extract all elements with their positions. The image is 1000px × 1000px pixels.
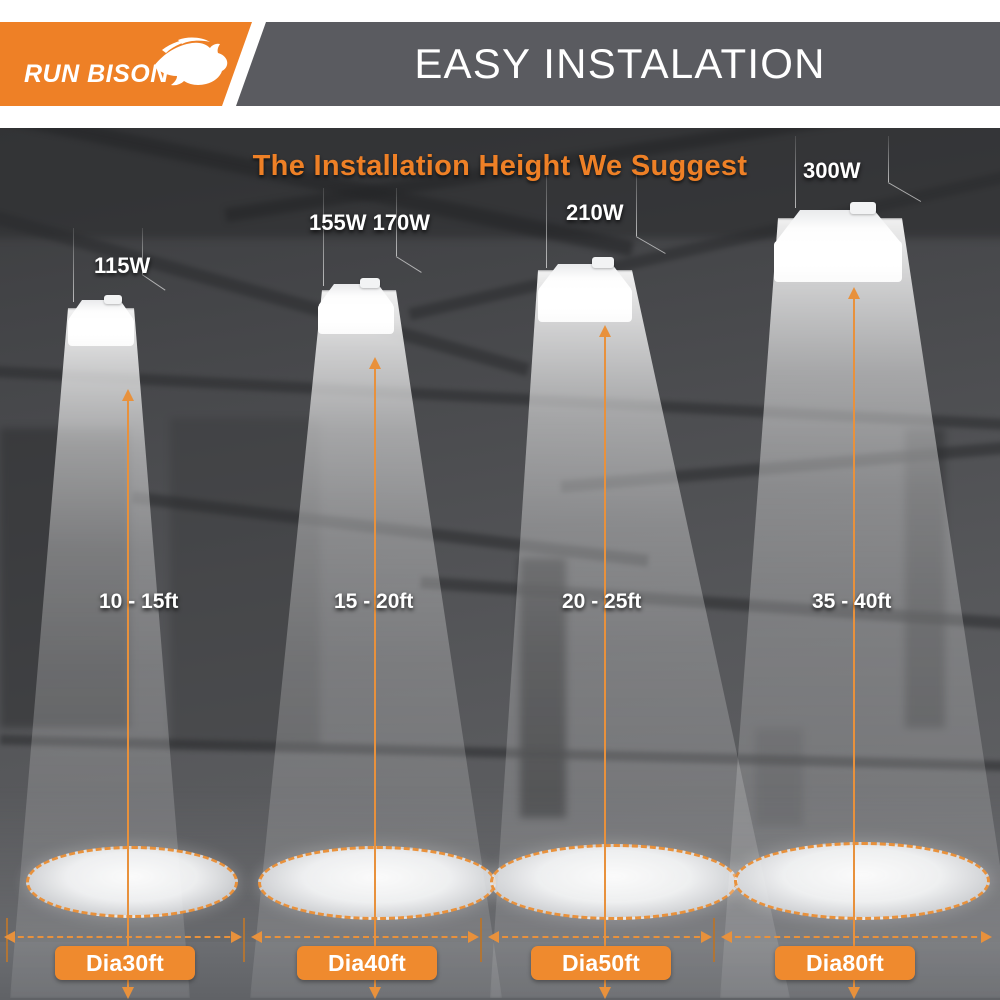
bison-icon bbox=[148, 36, 230, 92]
brand-logo: RUN BISON bbox=[18, 36, 228, 96]
wattage-label-2: 155W 170W bbox=[309, 210, 430, 236]
light-pool-1 bbox=[26, 846, 238, 918]
luminaire-2 bbox=[318, 284, 394, 334]
luminaire-3-housing bbox=[538, 264, 632, 290]
diameter-badge-2: Dia40ft bbox=[297, 946, 437, 980]
luminaire-2-lens bbox=[318, 304, 394, 334]
luminaire-1 bbox=[68, 300, 134, 346]
hanging-wire-3c bbox=[636, 236, 666, 254]
warehouse-scene: The Installation Height We Suggest 115W … bbox=[0, 128, 1000, 1000]
wattage-label-3: 210W bbox=[566, 200, 623, 226]
dim-arrow-left-3 bbox=[488, 931, 499, 943]
dim-arrow-right-3 bbox=[701, 931, 712, 943]
luminaire-3 bbox=[538, 264, 632, 322]
height-arrow-2 bbox=[374, 368, 376, 988]
luminaire-4-lens bbox=[774, 241, 902, 282]
hanging-wire-2c bbox=[396, 256, 422, 273]
page-title: EASY INSTALATION bbox=[300, 22, 940, 106]
height-label-3: 20 - 25ft bbox=[562, 590, 641, 614]
height-arrow-3 bbox=[604, 336, 606, 988]
dim-line-4 bbox=[725, 936, 987, 938]
luminaire-1-housing bbox=[68, 300, 134, 320]
luminaire-1-driver bbox=[104, 295, 122, 304]
dim-line-1 bbox=[8, 936, 240, 938]
height-label-1: 10 - 15ft bbox=[99, 590, 178, 614]
dim-tick-2 bbox=[480, 918, 482, 962]
luminaire-3-lens bbox=[538, 288, 632, 322]
diameter-badge-1: Dia30ft bbox=[55, 946, 195, 980]
height-label-2: 15 - 20ft bbox=[334, 590, 413, 614]
luminaire-4-housing bbox=[774, 210, 902, 244]
hanging-wire-3a bbox=[546, 168, 547, 268]
dim-tick-3 bbox=[713, 918, 715, 962]
diameter-badge-3: Dia50ft bbox=[531, 946, 671, 980]
dim-arrow-right-2 bbox=[468, 931, 479, 943]
dim-arrow-left-4 bbox=[721, 931, 732, 943]
dim-arrow-right-4 bbox=[981, 931, 992, 943]
luminaire-1-lens bbox=[68, 318, 134, 346]
light-pool-2 bbox=[258, 846, 496, 920]
luminaire-4-driver bbox=[850, 202, 876, 214]
dim-tick-1 bbox=[243, 918, 245, 962]
height-label-4: 35 - 40ft bbox=[812, 590, 891, 614]
header-banner: RUN BISON EASY INSTALATION bbox=[0, 22, 1000, 106]
luminaire-3-driver bbox=[592, 257, 614, 268]
dim-arrow-left-1 bbox=[4, 931, 15, 943]
hanging-wire-2a bbox=[323, 188, 324, 286]
light-pool-4 bbox=[734, 842, 990, 920]
scene-subtitle: The Installation Height We Suggest bbox=[0, 150, 1000, 183]
wattage-label-1: 115W bbox=[94, 253, 150, 279]
diameter-badge-4: Dia80ft bbox=[775, 946, 915, 980]
dim-line-3 bbox=[492, 936, 710, 938]
hanging-wire-1a bbox=[73, 228, 74, 302]
luminaire-2-housing bbox=[318, 284, 394, 306]
height-arrow-4 bbox=[853, 298, 855, 988]
height-arrow-1 bbox=[127, 400, 129, 988]
dim-arrow-right-1 bbox=[231, 931, 242, 943]
luminaire-2-driver bbox=[360, 278, 380, 288]
luminaire-4 bbox=[774, 210, 902, 282]
dim-arrow-left-2 bbox=[251, 931, 262, 943]
light-pool-3 bbox=[490, 844, 738, 920]
infographic-page: RUN BISON EASY INSTALATION The Instal bbox=[0, 0, 1000, 1000]
dim-line-2 bbox=[255, 936, 477, 938]
